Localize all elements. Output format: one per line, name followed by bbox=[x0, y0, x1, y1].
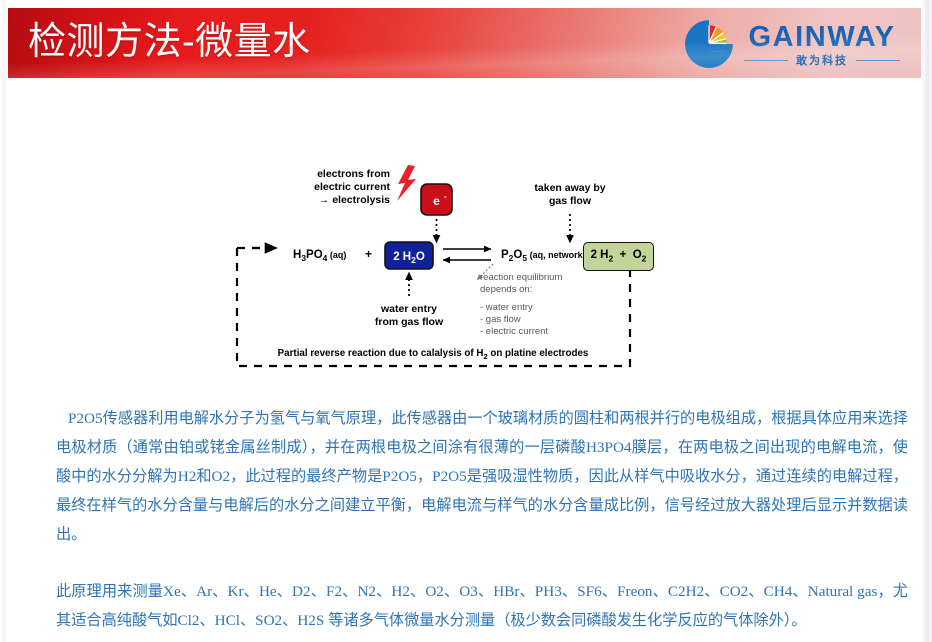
reaction-diagram-svg: electrons from electric current → electr… bbox=[225, 160, 645, 375]
gas-product-box: 2 H2 + O2 bbox=[583, 242, 654, 271]
slide-right-edge bbox=[921, 0, 932, 642]
equilibrium-note-line1: reaction equilibrium bbox=[480, 272, 562, 283]
water-entry-label-line2: from gas flow bbox=[375, 316, 444, 328]
brand-subtitle: 敢为科技 bbox=[796, 55, 848, 67]
paragraph-spacer bbox=[56, 549, 908, 577]
gas-product-label: 2 H2 + O2 bbox=[591, 249, 647, 263]
slide-header-banner: 检测方法-微量水 GAINWAY bbox=[8, 8, 922, 78]
brand-wordmark: GAINWAY 敢为科技 bbox=[744, 22, 900, 67]
plus-left-label: + bbox=[365, 247, 372, 261]
equilibrium-item-3: - electric current bbox=[480, 326, 548, 337]
page-title: 检测方法-微量水 bbox=[28, 15, 311, 69]
body-text-block: P2O5传感器利用电解水分子为氢气与氧气原理，此传感器由一个玻璃材质的圆柱和两根… bbox=[56, 404, 908, 635]
brand-rule-right bbox=[856, 60, 900, 61]
product-p2o5-label: P2O5 (aq, network) bbox=[501, 249, 586, 263]
equilibrium-item-2: - gas flow bbox=[480, 314, 521, 325]
paragraph-applicable-gases: 此原理用来测量Xe、Ar、Kr、He、D2、F2、N2、H2、O2、O3、HBr… bbox=[56, 577, 908, 635]
electrons-label-line3: → electrolysis bbox=[319, 194, 390, 206]
brand-name: GAINWAY bbox=[748, 22, 895, 52]
brand-logo: GAINWAY 敢为科技 bbox=[683, 16, 900, 72]
electron-box-label: e bbox=[433, 194, 440, 208]
slide-canvas: 检测方法-微量水 GAINWAY bbox=[0, 0, 932, 642]
electron-box-charge: - bbox=[444, 192, 447, 201]
gainway-g-logo-icon bbox=[683, 18, 735, 70]
brand-rule-left bbox=[744, 60, 788, 61]
electrons-label-line1: electrons from bbox=[317, 168, 390, 180]
brand-subtitle-row: 敢为科技 bbox=[744, 55, 900, 67]
electrons-label-line2: electric current bbox=[314, 181, 390, 193]
reactant-acid-label: H3PO4 (aq) bbox=[293, 249, 346, 263]
water-box-label: 2 H2O bbox=[393, 251, 425, 265]
equilibrium-note-line2: depends on: bbox=[480, 284, 532, 295]
reaction-diagram: electrons from electric current → electr… bbox=[225, 160, 645, 375]
lightning-bolt-icon bbox=[397, 165, 416, 201]
partial-reverse-note: Partial reverse reaction due to calalysi… bbox=[278, 348, 589, 361]
taken-away-label-line1: taken away by bbox=[534, 182, 605, 194]
paragraph-principle: P2O5传感器利用电解水分子为氢气与氧气原理，此传感器由一个玻璃材质的圆柱和两根… bbox=[56, 404, 908, 549]
water-entry-label-line1: water entry bbox=[380, 303, 437, 315]
taken-away-label-line2: gas flow bbox=[549, 195, 592, 207]
slide-left-edge bbox=[0, 0, 8, 642]
equilibrium-item-1: - water entry bbox=[480, 302, 533, 313]
